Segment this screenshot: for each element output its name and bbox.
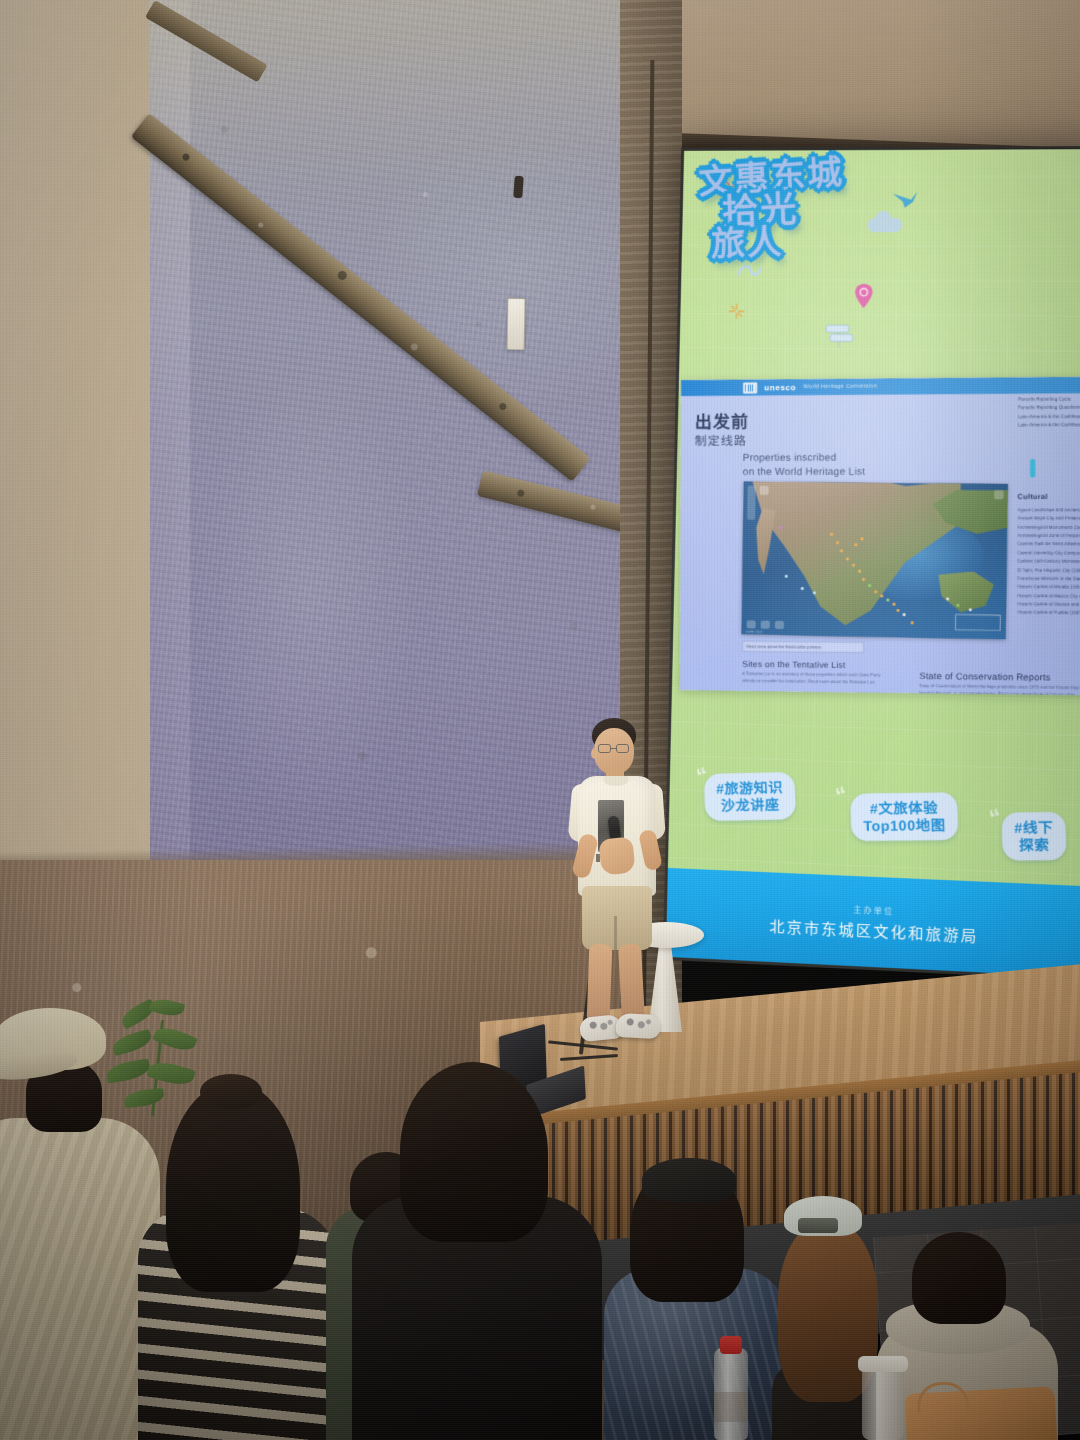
scroll-indicator [1030, 459, 1035, 477]
hashtag-bubble-1: #旅游知识 沙龙讲座 [704, 772, 797, 821]
plant-leaf [149, 996, 186, 1019]
cultural-site-item[interactable]: Ancient Maya City and Protected Tropical… [1017, 515, 1080, 524]
cultural-site-item[interactable]: Agave Landscape and Ancient Industrial F… [1017, 506, 1080, 515]
presenter-hands [598, 836, 636, 875]
properties-inscribed-title: Properties inscribed on the World Herita… [743, 451, 866, 479]
map-layers-button[interactable] [760, 486, 769, 495]
bottle-red-cap [720, 1336, 742, 1354]
light-switch-plate[interactable] [507, 298, 526, 350]
properties-line-1: Properties inscribed [743, 451, 865, 465]
wall-hole [513, 176, 524, 199]
unesco-logo-icon [743, 382, 757, 393]
cultural-site-item[interactable]: Camino Real de Tierra Adentro (2010) [1017, 540, 1080, 549]
hashtag-line-2: 沙龙讲座 [717, 796, 784, 814]
map-caption-link[interactable]: Read more about the Nomination process [742, 641, 864, 653]
eyeglasses-icon [598, 744, 633, 753]
presenter-sneaker-right [615, 1013, 660, 1039]
unesco-header-bar: unesco World Heritage Convention [681, 377, 1080, 396]
presenter-leg-left [587, 944, 613, 1023]
map-pin-icon [853, 283, 874, 309]
projection-screen: 文惠东城 拾光 旅人 unesco World Heritage Convent… [663, 146, 1080, 981]
cultural-site-item[interactable]: Historic Centre of Morelia (1991) [1017, 583, 1080, 592]
hashtag-line-2: 探索 [1015, 836, 1055, 853]
heritage-map[interactable]: Leaflet | Esri [741, 482, 1007, 640]
cap-strap [798, 1218, 838, 1233]
right-column-bullets: Periodic Reporting Cycle Periodic Report… [1018, 395, 1080, 430]
bottle-label [714, 1392, 748, 1422]
unesco-slide-panel: unesco World Heritage Convention 出发前 制定线… [680, 377, 1080, 696]
cultural-site-item[interactable]: Historic Centre of Puebla (1987) [1017, 609, 1080, 618]
map-zoom-control[interactable] [747, 486, 756, 520]
tentative-list-block: Sites on the Tentative List A Tentative … [742, 659, 895, 686]
airplane-icon [890, 190, 919, 210]
tentative-list-body: A Tentative List is an inventory of thos… [742, 671, 895, 686]
plant-leaf [110, 1029, 153, 1056]
coffee-cup-lid [858, 1356, 908, 1372]
rc-bullet[interactable]: Periodic Reporting Cycle [1018, 395, 1080, 404]
rc-bullet[interactable]: Latin America & the Caribbean Convention… [1018, 413, 1080, 422]
cultural-site-list: Agave Landscape and Ancient Industrial F… [1017, 506, 1080, 618]
map-bottom-controls[interactable] [747, 620, 784, 629]
hashtag-bubble-3: #线下 探索 [1001, 812, 1067, 861]
hashtag-line-1: #文旅体验 [863, 799, 946, 817]
conservation-reports-title[interactable]: State of Conservation Reports [919, 671, 1080, 683]
screen-title: 文惠东城 拾光 旅人 [695, 159, 875, 260]
cultural-site-item[interactable]: Archaeological Monuments Zone of Xochica… [1017, 523, 1080, 532]
rc-bullet[interactable]: Latin America & the Caribbean page [1018, 421, 1080, 430]
cultural-site-item[interactable]: El Tajín, Pre-Hispanic City (1992) [1017, 566, 1080, 575]
cultural-site-item[interactable]: Archaeological Zone of Paquimé, Casas Gr… [1017, 532, 1080, 541]
organizer-label: 主办单位 [853, 904, 894, 917]
map-scale-bar [955, 614, 1001, 631]
presenter-leg-right [618, 943, 645, 1022]
cultural-section-title: Cultural [1017, 494, 1047, 501]
title-line-3: 旅人 [711, 223, 874, 263]
slide-right-column: Periodic Reporting Cycle Periodic Report… [1018, 395, 1080, 430]
conservation-reports-block: State of Conservation Reports State of C… [919, 671, 1080, 696]
squiggle-icon [736, 262, 763, 280]
presenter-collar [604, 776, 628, 786]
hashtag-bubble-2: #文旅体验 Top100地图 [850, 792, 958, 841]
quote-mark-decor: “ [832, 781, 850, 809]
iced-coffee-cup[interactable] [862, 1366, 904, 1440]
hashtag-line-1: #线下 [1014, 819, 1054, 836]
organizer-name: 北京市东城区文化和旅游局 [769, 916, 978, 947]
cultural-site-item[interactable]: Central University City Campus of the Un… [1017, 549, 1080, 558]
audience-hair [912, 1232, 1006, 1324]
leather-bag[interactable] [905, 1386, 1058, 1440]
plant-leaf [105, 1058, 151, 1083]
unesco-wordmark: unesco [764, 383, 796, 392]
map-fullscreen-button[interactable] [994, 490, 1004, 499]
hashtag-line-1: #旅游知识 [716, 779, 783, 797]
slide-subheading: 制定线路 [695, 432, 747, 449]
audience-long-hair [166, 1082, 300, 1292]
properties-line-2: on the World Heritage List [743, 465, 865, 479]
audience-hair [400, 1062, 548, 1242]
hashtag-group: “ “ “ #旅游知识 沙龙讲座 #文旅体验 Top100地图 #线下 探索 [665, 748, 1080, 876]
presenter [560, 718, 680, 1068]
photo-scene: 文惠东城 拾光 旅人 unesco World Heritage Convent… [0, 0, 1080, 1440]
tentative-list-title[interactable]: Sites on the Tentative List [742, 659, 895, 671]
audience-hair-bun [200, 1074, 262, 1110]
map-attribution: Leaflet | Esri [746, 629, 763, 633]
cultural-site-item[interactable]: Earliest 16th-Century Monasteries on the… [1017, 557, 1080, 566]
unesco-subtitle: World Heritage Convention [803, 383, 877, 390]
presenter-shorts [582, 886, 652, 950]
hashtag-line-2: Top100地图 [863, 816, 946, 834]
plant-leaf [123, 1088, 164, 1108]
screen-footer-band: 主办单位 北京市东城区文化和旅游局 [663, 868, 1080, 981]
audience-member-beige-jacket [0, 1118, 160, 1440]
sparkle-icon [727, 302, 746, 320]
slide-heading: 出发前 [695, 408, 749, 433]
audience-dark-cap [642, 1158, 736, 1202]
signpost-icon [824, 321, 855, 348]
rc-bullet[interactable]: Periodic Reporting Questionnaire [1018, 404, 1080, 413]
